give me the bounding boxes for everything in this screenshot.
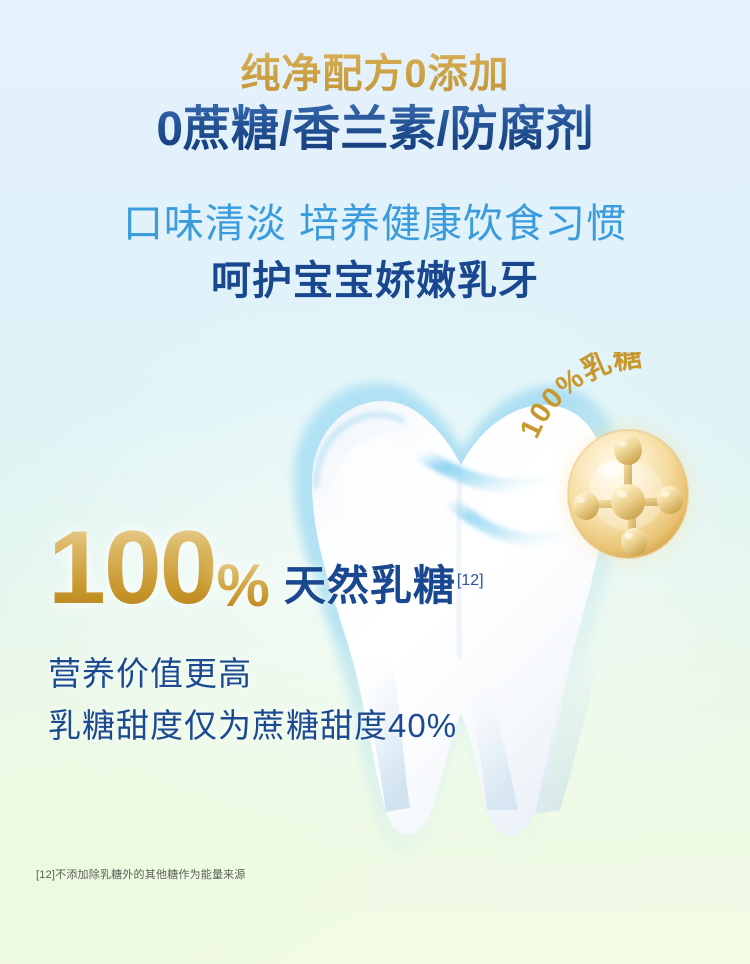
body-copy-line-2: 乳糖甜度仅为蔗糖甜度40% (48, 704, 457, 748)
sphere-sparkle (598, 462, 622, 478)
claim-footnote-marker: [12] (457, 572, 484, 589)
heading-pure-formula: 纯净配方0添加 (0, 0, 750, 97)
claim-percent-sign: % (217, 558, 270, 613)
headings-block: 纯净配方0添加 0蔗糖/香兰素/防腐剂 口味清淡 培养健康饮食习惯 呵护宝宝娇嫩… (0, 0, 750, 305)
arc-label-text: 100%乳糖 (520, 352, 645, 443)
heading-protect-baby-teeth: 呵护宝宝娇嫩乳牙 (0, 258, 750, 305)
claim-natural-lactose: 100 % 天然乳糖[12] (48, 524, 484, 613)
claim-label: 天然乳糖[12] (284, 565, 484, 607)
heading-mild-taste: 口味清淡 培养健康饮食习惯 (0, 201, 750, 248)
claim-number: 100 (48, 524, 216, 613)
claim-label-text: 天然乳糖 (284, 562, 456, 609)
arc-label-100-lactose: 100%乳糖 (520, 352, 740, 462)
product-infographic-poster: 100%乳糖 纯净配方0添加 0蔗糖/香兰素/防腐剂 口味清淡 培养健康饮食习惯… (0, 0, 750, 964)
body-copy-line-1: 营养价值更高 (48, 652, 457, 696)
body-copy-block: 营养价值更高 乳糖甜度仅为蔗糖甜度40% (48, 652, 457, 755)
footnote-12: [12]不添加除乳糖外的其他糖作为能量来源 (36, 866, 246, 882)
heading-zero-additives: 0蔗糖/香兰素/防腐剂 (0, 103, 750, 157)
